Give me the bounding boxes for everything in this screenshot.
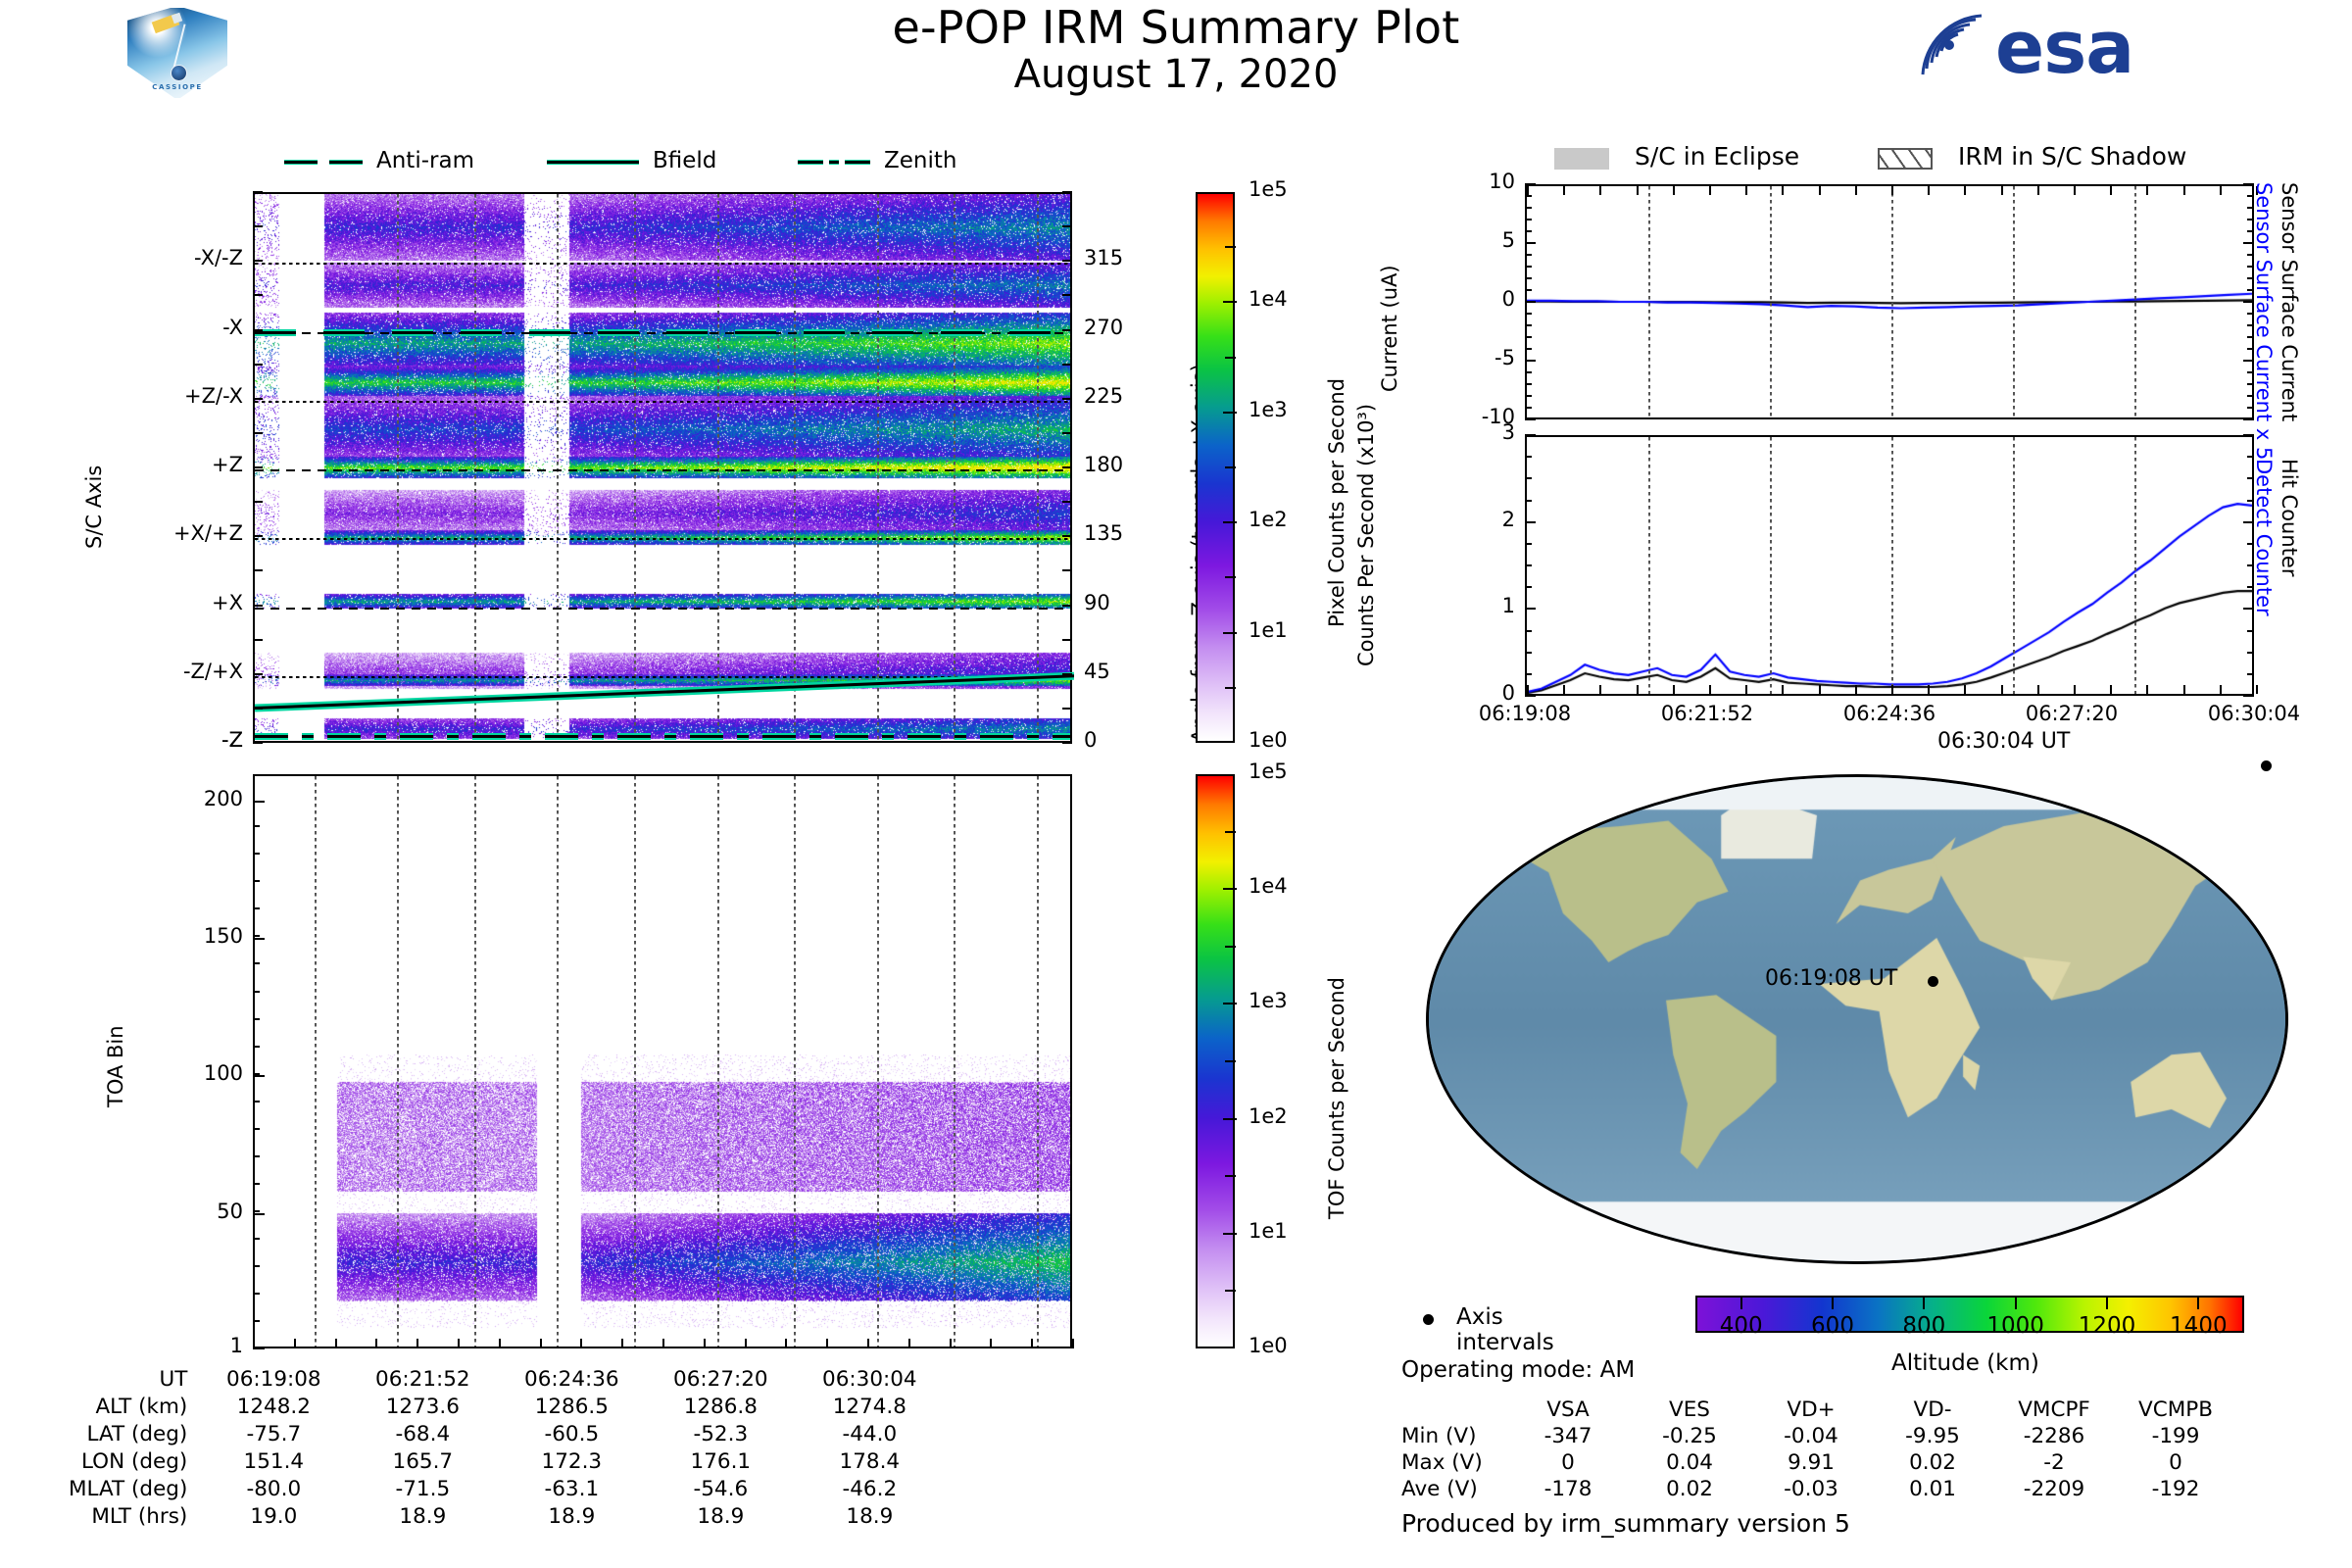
- angle-ytick-label-4: 135: [1084, 521, 1123, 545]
- counts-ylabel: Counts Per Second (x10³): [1354, 404, 1378, 666]
- voltage-row-label-2: Ave (V): [1401, 1476, 1507, 1502]
- ephemeris-cell-4-0: -80.0: [199, 1475, 348, 1502]
- voltage-cell-2-2: -0.03: [1750, 1476, 1872, 1502]
- tick-mark: [253, 398, 263, 400]
- tick-mark-x: [1745, 685, 1747, 694]
- sc-axis-ylabel: S/C Axis: [82, 465, 106, 549]
- tick-mark-minor: [1525, 301, 1532, 303]
- legend-label-zenith: Zenith: [884, 148, 956, 173]
- colorbar-tick-label-1: 1e1: [1249, 618, 1288, 642]
- voltage-summary-table: VSAVESVD+VD-VMCPFVCMPBMin (V)-347-0.25-0…: [1401, 1396, 2236, 1502]
- cassiope-logo: CASSIOPE: [125, 6, 229, 104]
- grid-line-vertical: [1770, 437, 1772, 694]
- tick-mark-minor: [1525, 207, 1532, 209]
- tick-mark-x: [1928, 685, 1930, 694]
- current-ytick-2: 0: [1372, 287, 1515, 311]
- altitude-tick: [2015, 1296, 2017, 1309]
- voltage-header-row: VSAVESVD+VD-VMCPFVCMPB: [1401, 1396, 2236, 1423]
- tick-mark-minor: [1525, 383, 1532, 385]
- toa-ytick-label-4: 200: [116, 787, 243, 810]
- tick-mark-minor: [253, 880, 260, 882]
- altitude-tick: [2197, 1296, 2199, 1309]
- ephemeris-cell-4-4: -46.2: [795, 1475, 944, 1502]
- tick-mark-minor: [1525, 477, 1532, 479]
- tick-mark-x: [1031, 1339, 1033, 1348]
- tick-mark-minor: [253, 962, 260, 964]
- tick-mark-x: [1599, 685, 1601, 694]
- eclipse-legend: S/C in Eclipse IRM in S/C Shadow: [1554, 140, 2338, 175]
- voltage-cell-0-0: -347: [1507, 1423, 1629, 1449]
- tick-mark: [253, 569, 263, 571]
- grid-line-vertical: [1037, 776, 1039, 1347]
- ephemeris-row: MLT (hrs)19.018.918.918.918.9: [69, 1502, 944, 1530]
- ephemeris-cell-0-2: 06:24:36: [497, 1365, 646, 1393]
- tick-mark-minor: [1525, 500, 1532, 502]
- altitude-tick-label-3: 1000: [1967, 1313, 2065, 1339]
- tick-mark-x: [2001, 186, 2003, 195]
- colorbar-tick: [1223, 521, 1237, 523]
- counts-xtick-2: 06:24:36: [1811, 702, 1968, 725]
- voltage-header-blank: [1401, 1396, 1507, 1423]
- esa-wordmark: esa: [1995, 6, 2133, 90]
- tick-mark: [253, 1075, 265, 1077]
- sc-axis-ytick-label-0: -X/-Z: [106, 246, 243, 269]
- ephemeris-cell-2-0: -75.7: [199, 1420, 348, 1447]
- ephemeris-cell-1-2: 1286.5: [497, 1393, 646, 1420]
- toa-ytick-label-1: 50: [116, 1200, 243, 1223]
- angle-ytick-label-1: 270: [1084, 316, 1123, 339]
- voltage-cell-2-1: 0.02: [1629, 1476, 1750, 1502]
- ephemeris-cell-2-3: -52.3: [646, 1420, 795, 1447]
- tick-mark-x: [990, 1339, 992, 1348]
- tick-mark-x: [1819, 186, 1821, 195]
- tick-mark-minor: [2247, 456, 2254, 458]
- altitude-tick-label-5: 1400: [2149, 1313, 2247, 1339]
- colorbar-tick-minor: [1225, 576, 1236, 578]
- tick-mark-x: [950, 1339, 952, 1348]
- tick-mark-minor: [253, 1101, 260, 1102]
- tick-mark-x: [1599, 186, 1601, 195]
- voltage-table-grid: VSAVESVD+VD-VMCPFVCMPBMin (V)-347-0.25-0…: [1401, 1396, 2236, 1502]
- counts-ytick-1: 1: [1411, 594, 1515, 617]
- tick-mark-x: [826, 1339, 828, 1348]
- grid-line-vertical: [2013, 186, 2015, 417]
- ephemeris-cell-3-3: 176.1: [646, 1447, 795, 1475]
- tick-mark-x: [1964, 186, 1966, 195]
- operating-mode: Operating mode: AM: [1401, 1357, 1635, 1383]
- tick-mark: [253, 605, 263, 607]
- ephemeris-cell-0-3: 06:27:20: [646, 1365, 795, 1393]
- tick-mark-x: [2220, 186, 2222, 195]
- voltage-cell-0-3: -9.95: [1872, 1423, 1993, 1449]
- altitude-tick: [1923, 1296, 1925, 1309]
- ephemeris-table: UT06:19:0806:21:5206:24:3606:27:2006:30:…: [69, 1365, 944, 1530]
- tick-mark: [1062, 466, 1072, 468]
- voltage-row: Ave (V)-1780.02-0.030.01-2209-192: [1401, 1476, 2236, 1502]
- tick-mark: [1062, 191, 1072, 193]
- grid-line-vertical: [397, 776, 399, 1347]
- tick-mark: [1062, 535, 1072, 537]
- colorbar-tick-minor: [1225, 246, 1236, 248]
- world-map-ellipse: [1426, 774, 2288, 1264]
- orbit-interval-dot-3: [2276, 1158, 2287, 1170]
- tick-mark-x: [1563, 186, 1565, 195]
- tick-mark: [253, 1213, 265, 1215]
- grid-line-vertical: [1648, 437, 1650, 694]
- colorbar-tick: [1223, 1003, 1237, 1004]
- tick-mark-minor: [1525, 456, 1532, 458]
- ephemeris-cell-3-0: 151.4: [199, 1447, 348, 1475]
- colorbar-tick-label-0: 1e0: [1249, 1334, 1288, 1357]
- tick-mark-minor: [253, 1183, 260, 1185]
- ephemeris-row-header-1: ALT (km): [69, 1393, 199, 1420]
- angle-ytick-label-0: 315: [1084, 246, 1123, 269]
- voltage-cell-1-1: 0.04: [1629, 1449, 1750, 1476]
- toa-bin-spectrogram-plot[interactable]: [253, 774, 1072, 1348]
- tick-mark: [1062, 569, 1072, 571]
- colorbar-tick: [1223, 632, 1237, 634]
- tick-mark-minor: [253, 1018, 260, 1020]
- colorbar-tick-label-3: 1e3: [1249, 398, 1288, 421]
- tick-mark-x: [2074, 685, 2076, 694]
- tick-mark-minor: [1525, 242, 1532, 244]
- tick-mark-x: [785, 1339, 787, 1348]
- tick-mark-minor: [2247, 695, 2254, 697]
- tick-mark: [253, 260, 263, 262]
- colorbar-tick-minor: [1225, 357, 1236, 359]
- grid-line-vertical: [315, 776, 317, 1347]
- ephemeris-cell-2-4: -44.0: [795, 1420, 944, 1447]
- map-label-start-time: 06:19:08 UT: [1765, 966, 1897, 991]
- counts-y2label-black: Hit Counter: [2278, 459, 2301, 576]
- tick-mark-x: [294, 1339, 296, 1348]
- voltage-row-label-1: Max (V): [1401, 1449, 1507, 1476]
- ephemeris-cell-0-4: 06:30:04: [795, 1365, 944, 1393]
- tick-mark-minor: [1525, 630, 1532, 632]
- tick-mark-minor: [253, 1265, 260, 1267]
- tick-mark-x: [867, 1339, 869, 1348]
- ephemeris-cell-5-4: 18.9: [795, 1502, 944, 1530]
- grid-line-vertical: [1891, 186, 1893, 417]
- tick-mark-minor: [1525, 219, 1532, 220]
- tick-mark-x: [2001, 685, 2003, 694]
- tick-mark-x: [1745, 186, 1747, 195]
- grid-line-vertical: [474, 776, 476, 1347]
- tick-mark-minor: [1525, 371, 1532, 373]
- grid-line-vertical: [2134, 437, 2136, 694]
- tick-mark-x: [1527, 186, 1529, 195]
- ephemeris-cell-3-4: 178.4: [795, 1447, 944, 1475]
- tick-mark-minor: [1525, 564, 1532, 566]
- tick-mark-minor: [253, 1046, 260, 1048]
- tick-mark-x: [1855, 685, 1857, 694]
- tick-mark: [1062, 432, 1072, 434]
- ephemeris-cell-4-2: -63.1: [497, 1475, 646, 1502]
- tick-mark-x: [2220, 685, 2222, 694]
- tick-mark: [253, 535, 263, 537]
- cassiope-logo-label: CASSIOPE: [125, 83, 229, 91]
- voltage-col-header-2: VD+: [1750, 1396, 1872, 1423]
- tick-mark-x: [2183, 186, 2185, 195]
- colorbar-tick-label-4: 1e4: [1249, 874, 1288, 898]
- tick-mark-x: [2110, 685, 2112, 694]
- sc-axis-ytick-label-7b: -Z: [106, 728, 243, 752]
- tick-mark-minor: [1525, 183, 1532, 185]
- colorbar-tick-label-2: 1e2: [1249, 1104, 1288, 1128]
- current-ylabel: Current (uA): [1378, 265, 1401, 392]
- eclipse-swatch-icon: [1554, 148, 1609, 170]
- tick-mark: [1062, 294, 1072, 296]
- tick-mark-x: [2037, 685, 2039, 694]
- counts-xtick-0: 06:19:08: [1446, 702, 1603, 725]
- tick-mark-x: [1637, 186, 1639, 195]
- voltage-cell-1-2: 9.91: [1750, 1449, 1872, 1476]
- tick-mark: [253, 673, 263, 675]
- grid-line-vertical: [717, 776, 719, 1347]
- tick-mark-x: [458, 1339, 460, 1348]
- tick-mark: [253, 294, 263, 296]
- tick-mark: [253, 329, 263, 331]
- colorbar-tick-minor: [1225, 946, 1236, 948]
- tick-mark-x: [1673, 186, 1675, 195]
- ephemeris-cell-5-0: 19.0: [199, 1502, 348, 1530]
- tick-mark-minor: [1525, 673, 1532, 675]
- tick-mark-x: [1819, 685, 1821, 694]
- legend-label-irm-shadow: IRM in S/C Shadow: [1958, 142, 2186, 171]
- ephemeris-row-header-5: MLT (hrs): [69, 1502, 199, 1530]
- tick-mark-minor: [1525, 521, 1532, 523]
- tick-mark: [1062, 398, 1072, 400]
- tick-mark: [1062, 501, 1072, 503]
- counts-line-canvas: [1527, 437, 2252, 694]
- ephemeris-row-header-4: MLAT (deg): [69, 1475, 199, 1502]
- tick-mark-x: [621, 1339, 623, 1348]
- colorbar-tick-label-5: 1e5: [1249, 177, 1288, 201]
- ephemeris-row-header-2: LAT (deg): [69, 1420, 199, 1447]
- altitude-tick-label-1: 600: [1784, 1313, 1882, 1339]
- voltage-cell-1-5: 0: [2115, 1449, 2236, 1476]
- grid-line-vertical: [1891, 437, 1893, 694]
- voltage-col-header-0: VSA: [1507, 1396, 1629, 1423]
- voltage-cell-2-5: -192: [2115, 1476, 2236, 1502]
- voltage-cell-0-1: -0.25: [1629, 1423, 1750, 1449]
- tick-mark: [253, 191, 263, 193]
- bfield-line: [255, 194, 1074, 745]
- ephemeris-cell-5-1: 18.9: [348, 1502, 497, 1530]
- map-dot-start: [1928, 976, 1938, 987]
- toa-ytick-label-0: 1: [116, 1334, 243, 1357]
- satellite-body-icon: [171, 13, 183, 24]
- tick-mark-minor: [253, 991, 260, 993]
- tick-mark-minor: [253, 1238, 260, 1240]
- tick-mark-x: [375, 1339, 377, 1348]
- counts-per-second-plot[interactable]: [1525, 435, 2254, 696]
- sc-axis-ytick-label-1: -X: [106, 316, 243, 339]
- tick-mark-minor: [1525, 289, 1532, 291]
- tick-mark-x: [580, 1339, 582, 1348]
- colorbar-tick-label-0: 1e0: [1249, 728, 1288, 752]
- current-line-canvas: [1527, 186, 2252, 417]
- grid-line-vertical: [1648, 186, 1650, 417]
- tick-mark-x: [2256, 685, 2258, 694]
- ephemeris-cell-5-2: 18.9: [497, 1502, 646, 1530]
- esa-dish-icon: [1913, 10, 1989, 86]
- current-ytick-1: -5: [1372, 346, 1515, 369]
- tick-mark-x: [1928, 186, 1930, 195]
- voltage-col-header-3: VD-: [1872, 1396, 1993, 1423]
- tick-mark-x: [2146, 685, 2148, 694]
- ephemeris-row-header-3: LON (deg): [69, 1447, 199, 1475]
- ephemeris-cell-1-0: 1248.2: [199, 1393, 348, 1420]
- altitude-tick-label-4: 1200: [2058, 1313, 2156, 1339]
- ephemeris-cell-4-3: -54.6: [646, 1475, 795, 1502]
- voltage-row-label-0: Min (V): [1401, 1423, 1507, 1449]
- ephemeris-cell-0-0: 06:19:08: [199, 1365, 348, 1393]
- voltage-cell-0-2: -0.04: [1750, 1423, 1872, 1449]
- tick-mark: [253, 501, 263, 503]
- angle-ytick-label-3: 180: [1084, 453, 1123, 476]
- altitude-tick-label-0: 400: [1692, 1313, 1790, 1339]
- counts-y2label-blue: Detect Counter: [2252, 459, 2276, 616]
- sc-axis-ytick-label-5: +X: [106, 591, 243, 614]
- counts-ylabel-text: Counts Per Second (x10³): [1354, 404, 1378, 666]
- voltage-cell-1-3: 0.02: [1872, 1449, 1993, 1476]
- voltage-cell-2-4: -2209: [1993, 1476, 2115, 1502]
- tick-mark: [1062, 225, 1072, 227]
- grid-line-vertical: [954, 776, 955, 1347]
- tick-mark-minor: [1525, 418, 1532, 420]
- tick-mark: [1062, 605, 1072, 607]
- tick-mark-minor: [1525, 543, 1532, 545]
- colorbar-tick-minor: [1225, 1290, 1236, 1292]
- tick-mark-minor: [1525, 324, 1532, 326]
- axis-interval-dot-icon: [1423, 1314, 1434, 1325]
- altitude-tick: [1832, 1296, 1834, 1309]
- beam-icon: [172, 24, 185, 68]
- pixel-counts-colorbar-label: Pixel Counts per Second: [1325, 378, 1348, 627]
- voltage-cell-1-0: 0: [1507, 1449, 1629, 1476]
- grid-line-vertical: [634, 776, 636, 1347]
- ephemeris-cell-4-1: -71.5: [348, 1475, 497, 1502]
- tick-mark-minor: [253, 1128, 260, 1130]
- tick-mark: [1062, 708, 1072, 710]
- tick-mark-minor: [2247, 630, 2254, 632]
- tick-mark-minor: [253, 853, 260, 855]
- tick-mark: [1062, 329, 1072, 331]
- colorbar-tick: [1223, 1118, 1237, 1120]
- toa-bin-heatmap-canvas: [255, 776, 1070, 1347]
- tick-mark: [1062, 364, 1072, 366]
- tick-mark-minor: [1525, 266, 1532, 268]
- ephemeris-cell-2-1: -68.4: [348, 1420, 497, 1447]
- grid-line-vertical: [2134, 186, 2136, 417]
- tick-mark: [253, 364, 263, 366]
- sc-axis-ytick-label-6: -Z/+X: [106, 660, 243, 683]
- sc-axis-ytick-label-2: +Z/-X: [106, 384, 243, 408]
- tick-mark-x: [2110, 186, 2112, 195]
- tick-mark-x: [1964, 685, 1966, 694]
- tick-mark-minor: [253, 1210, 260, 1212]
- tick-mark-x: [1891, 186, 1893, 195]
- tick-mark-x: [2037, 186, 2039, 195]
- orbit-track-overlay: [1429, 777, 2288, 1264]
- tick-mark: [253, 708, 263, 710]
- tick-mark-x: [1891, 685, 1893, 694]
- tick-mark-x: [2074, 186, 2076, 195]
- tick-mark-minor: [1525, 608, 1532, 610]
- colorbar-tick: [1223, 888, 1237, 890]
- ephemeris-cell-3-1: 165.7: [348, 1447, 497, 1475]
- voltage-cell-0-4: -2286: [1993, 1423, 2115, 1449]
- tick-mark-x: [1527, 685, 1529, 694]
- tick-mark: [253, 938, 265, 940]
- voltage-row: Min (V)-347-0.25-0.04-9.95-2286-199: [1401, 1423, 2236, 1449]
- tick-mark-minor: [253, 825, 260, 827]
- tick-mark-minor: [1525, 652, 1532, 654]
- colorbar-tick-label-5: 1e5: [1249, 759, 1288, 783]
- angle-ytick-label-6: 45: [1084, 660, 1110, 683]
- tick-mark: [253, 225, 263, 227]
- tick-mark: [253, 639, 263, 641]
- ephemeris-cell-1-4: 1274.8: [795, 1393, 944, 1420]
- angle-ytick-label-5: 90: [1084, 591, 1110, 614]
- altitude-tick: [2106, 1296, 2108, 1309]
- tick-mark-minor: [2247, 673, 2254, 675]
- tick-mark-minor: [1525, 395, 1532, 397]
- sensor-surface-current-plot[interactable]: [1525, 184, 2254, 419]
- voltage-col-header-1: VES: [1629, 1396, 1750, 1423]
- tick-mark-minor: [1525, 195, 1532, 197]
- tick-mark-x: [704, 1339, 706, 1348]
- tick-mark-minor: [253, 907, 260, 909]
- tick-mark: [253, 742, 263, 744]
- colorbar-tick: [1223, 1233, 1237, 1235]
- tick-mark-x: [540, 1339, 542, 1348]
- tick-mark-minor: [1525, 313, 1532, 315]
- ephemeris-row: LON (deg)151.4165.7172.3176.1178.4: [69, 1447, 944, 1475]
- grid-line-vertical: [1770, 186, 1772, 417]
- tick-mark-x: [908, 1339, 910, 1348]
- colorbar-tick-minor: [1225, 831, 1236, 833]
- mission-badge-icon: [171, 65, 187, 81]
- tick-mark-minor: [1525, 254, 1532, 256]
- tick-mark-x: [1709, 186, 1711, 195]
- tick-mark-minor: [1525, 407, 1532, 409]
- tick-mark-x: [2183, 685, 2185, 694]
- colorbar-tick-label-3: 1e3: [1249, 989, 1288, 1012]
- orbit-interval-dot-2: [2267, 1181, 2278, 1193]
- tick-mark: [1062, 742, 1072, 744]
- tick-mark-minor: [253, 1155, 260, 1157]
- tick-mark-x: [499, 1339, 501, 1348]
- voltage-cell-2-0: -178: [1507, 1476, 1629, 1502]
- ephemeris-row-header-0: UT: [69, 1365, 199, 1393]
- tick-mark-x: [1637, 685, 1639, 694]
- ground-track-map[interactable]: 06:30:04 UT 06:19:08 UT: [1426, 774, 2288, 1284]
- ephemeris-cell-0-1: 06:21:52: [348, 1365, 497, 1393]
- voltage-cell-2-3: 0.01: [1872, 1476, 1993, 1502]
- tick-mark-minor: [1525, 434, 1532, 436]
- counts-xtick-1: 06:21:52: [1629, 702, 1786, 725]
- sc-axis-ytick-label-3: +Z: [106, 453, 243, 476]
- tof-counts-colorbar-label: TOF Counts per Second: [1325, 977, 1348, 1219]
- colorbar-tick-label-4: 1e4: [1249, 287, 1288, 311]
- ephemeris-table-grid: UT06:19:0806:21:5206:24:3606:27:2006:30:…: [69, 1365, 944, 1530]
- tick-mark: [1062, 639, 1072, 641]
- sc-axis-legend: Anti-ram Bfield Zenith: [284, 145, 990, 178]
- sc-axis-spectrogram-plot[interactable]: [253, 192, 1072, 743]
- voltage-col-header-4: VMCPF: [1993, 1396, 2115, 1423]
